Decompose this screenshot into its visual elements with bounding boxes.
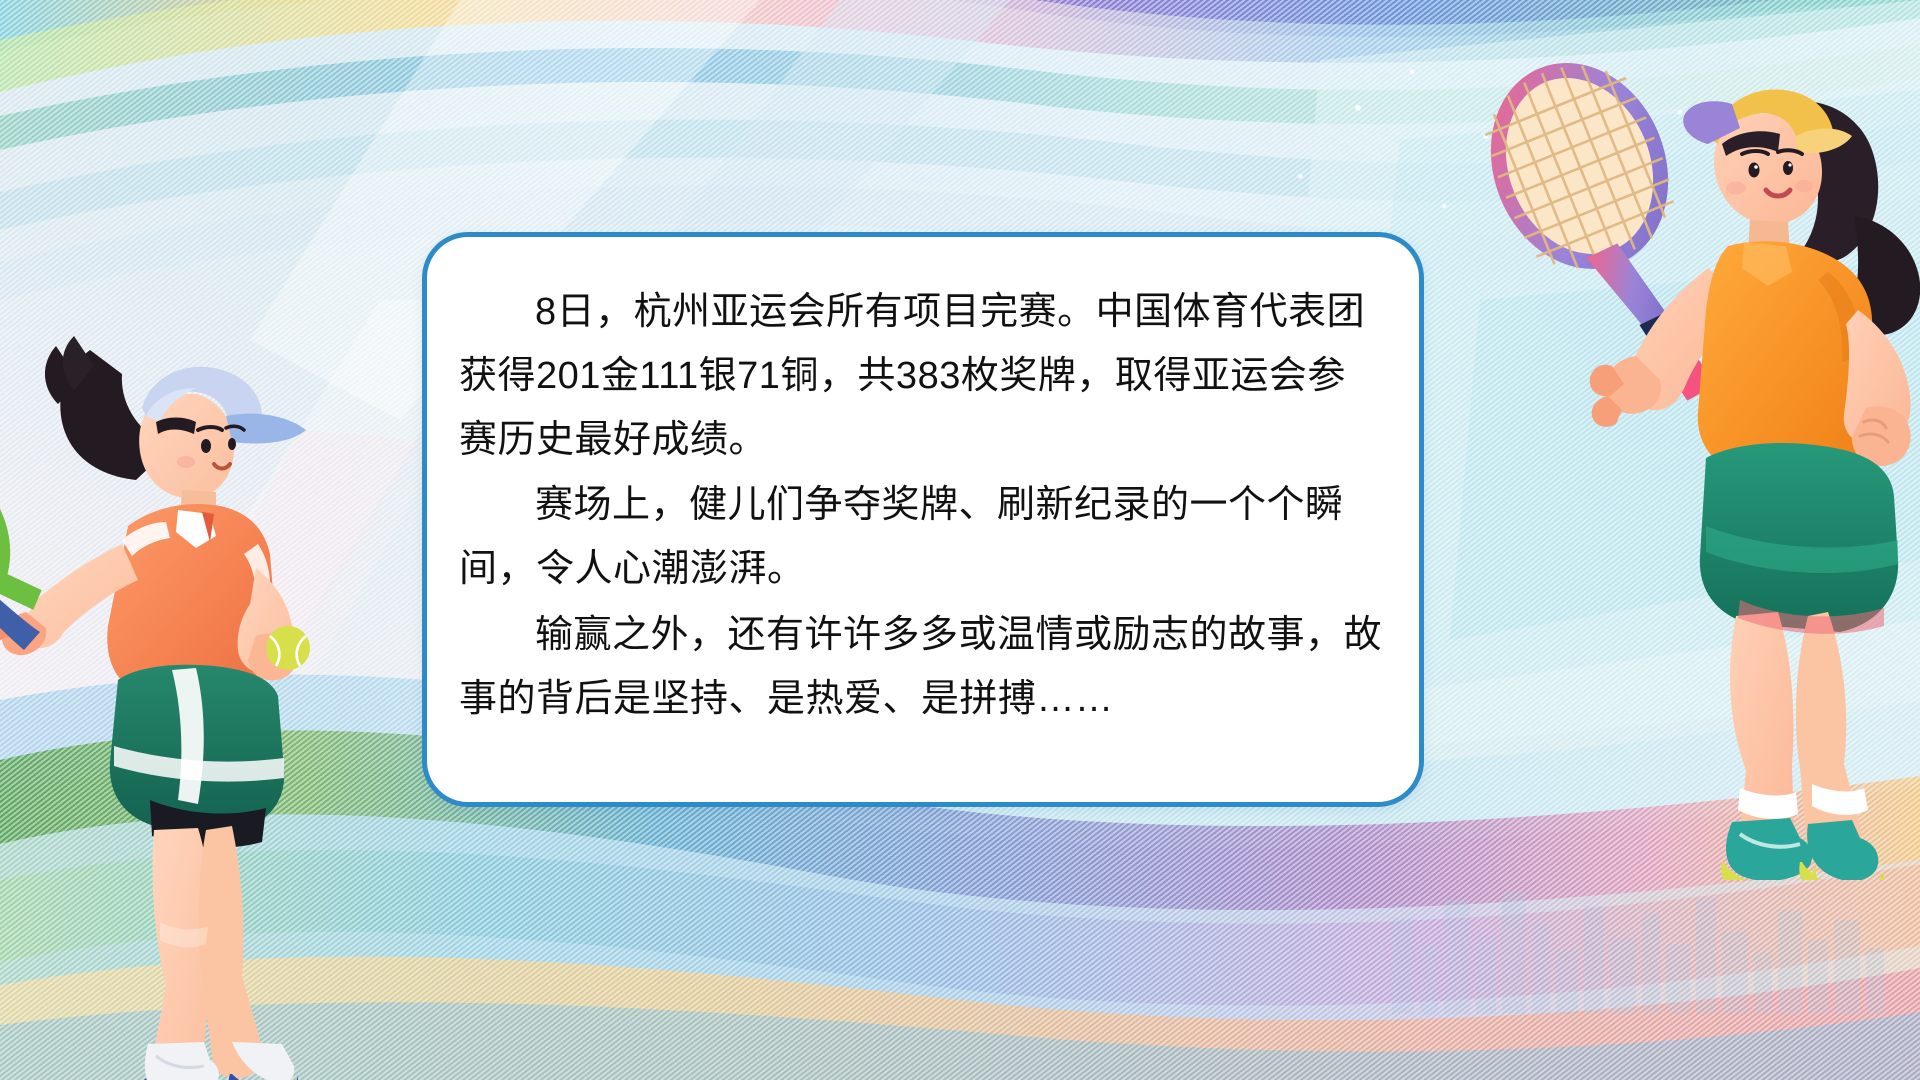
- poster-canvas: 8日，杭州亚运会所有项目完赛。中国体育代表团获得201金111银71铜，共383…: [0, 0, 1920, 1080]
- article-text-card: 8日，杭州亚运会所有项目完赛。中国体育代表团获得201金111银71铜，共383…: [422, 232, 1424, 807]
- paragraph-3: 输赢之外，还有许许多多或温情或励志的故事，故事的背后是坚持、是热爱、是拼搏……: [459, 604, 1383, 732]
- article-text-body: 8日，杭州亚运会所有项目完赛。中国体育代表团获得201金111银71铜，共383…: [427, 237, 1419, 762]
- paragraph-2: 赛场上，健儿们争夺奖牌、刷新纪录的一个个瞬间，令人心潮澎湃。: [459, 474, 1383, 602]
- paragraph-1: 8日，杭州亚运会所有项目完赛。中国体育代表团获得201金111银71铜，共383…: [459, 281, 1383, 472]
